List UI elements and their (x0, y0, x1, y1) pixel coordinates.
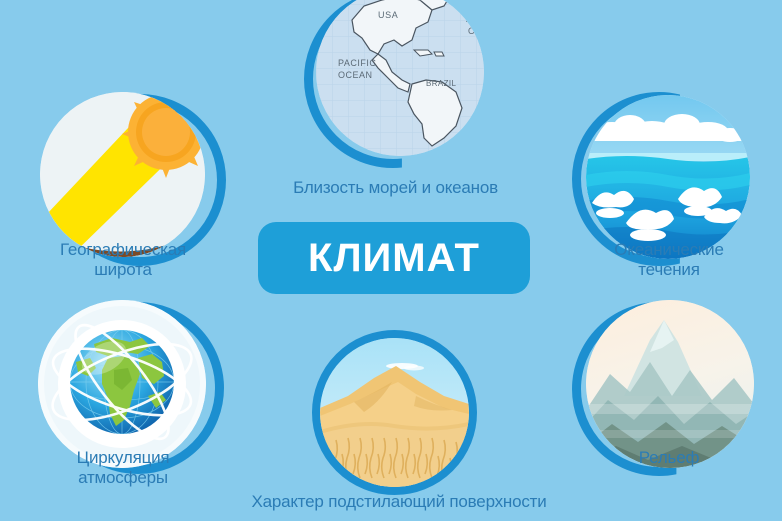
caption-ocean-currents: Океанические течения (574, 240, 764, 280)
desert-dunes-icon (320, 338, 469, 487)
caption-relief: Рельеф (574, 448, 764, 468)
caption-atmospheric-circulation: Циркуляция атмосферы (8, 448, 238, 488)
sun-rays-icon (40, 92, 205, 257)
center-title-text: КЛИМАТ (308, 236, 480, 281)
node-geographic-latitude: Географическая широта (28, 92, 218, 242)
node-atmospheric-circulation: Циркуляция атмосферы (28, 300, 218, 450)
node-relief: Рельеф (572, 300, 762, 450)
caption-geographic-latitude: Географическая широта (3, 240, 243, 280)
mountains-icon (586, 300, 754, 468)
map-label-atlantic-o: O (468, 26, 475, 36)
ocean-waves-icon (586, 95, 750, 259)
map-label-pacific: PACIFIC (338, 58, 376, 68)
node-ocean-currents: Океанические течения (572, 92, 762, 242)
world-map-icon: USA PACIFIC OCEAN BRAZIL A O (316, 0, 484, 156)
map-label-usa: USA (378, 10, 398, 20)
node-underlying-surface: Характер подстилающий поверхности (312, 330, 487, 490)
node-proximity-seas-oceans: USA PACIFIC OCEAN BRAZIL A O Близость мо… (300, 0, 490, 180)
map-label-atlantic-a: A (466, 14, 472, 24)
climate-factors-infographic: Географическая широта (0, 0, 782, 521)
center-title-badge: КЛИМАТ (258, 222, 530, 294)
caption-underlying-surface: Характер подстилающий поверхности (224, 492, 574, 512)
map-label-brazil: BRAZIL (426, 79, 457, 88)
map-label-ocean: OCEAN (338, 70, 373, 80)
caption-proximity-seas-oceans: Близость морей и океанов (268, 178, 523, 198)
globe-orbit-icon (38, 300, 206, 468)
